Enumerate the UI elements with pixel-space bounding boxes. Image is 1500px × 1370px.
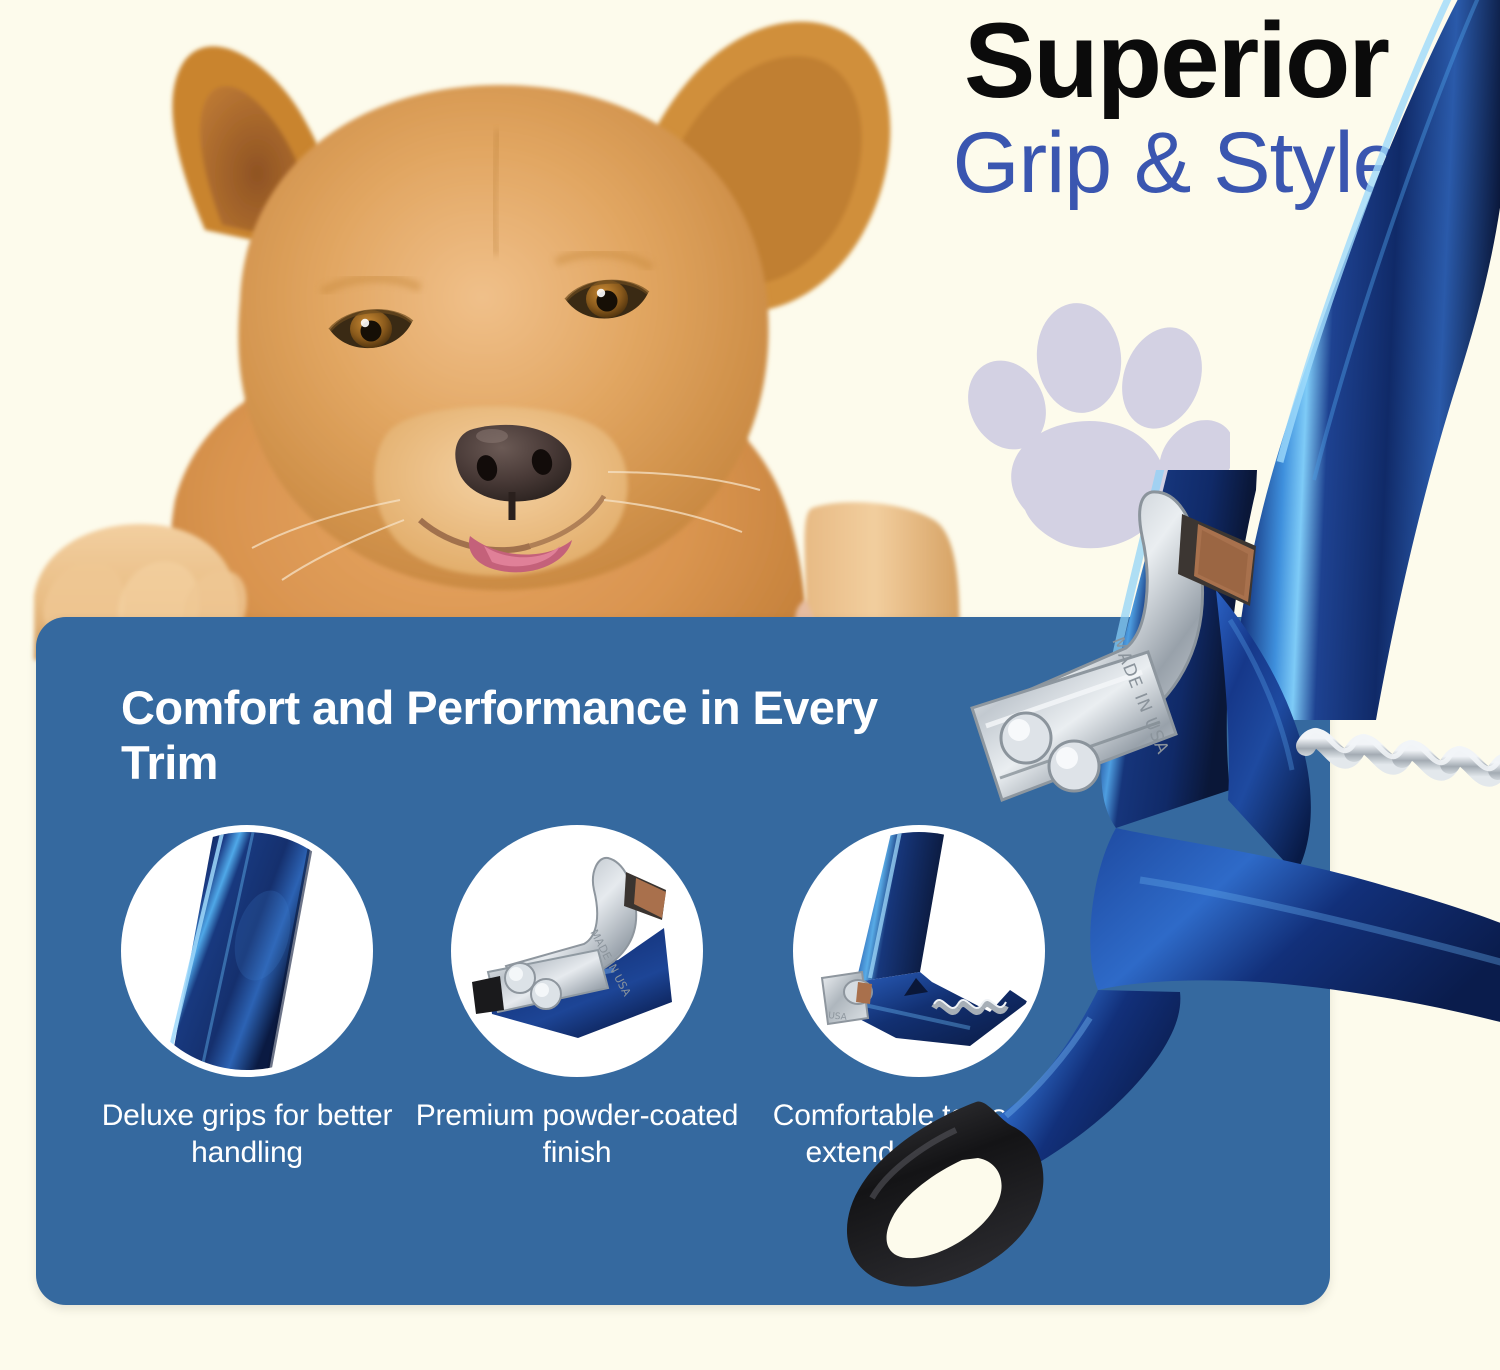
product-marketing-image: Superior Grip & Style Comfort and Perfor… [0, 0, 1500, 1370]
feature-item-deluxe-grips: Deluxe grips for better handling [82, 832, 412, 1171]
panel-title: Comfort and Performance in Every Trim [121, 681, 881, 790]
feature-list: Deluxe grips for better handling [82, 832, 1092, 1252]
feature-caption: Comfortable to use for extended periods [754, 1098, 1084, 1171]
headline-block: Superior Grip & Style [856, 6, 1496, 209]
feature-item-extended-use-comfort: USA Comfortable t [754, 832, 1084, 1171]
paw-print-icon [955, 300, 1230, 560]
features-panel: Comfort and Performance in Every Trim [36, 617, 1330, 1305]
clipper-spring-closeup: USA [800, 832, 1038, 1070]
clipper-handle-closeup [128, 832, 366, 1070]
feature-item-powder-coated-finish: MADE IN USA Premium powder-coated finish [412, 832, 742, 1171]
headline-line-1: Superior [856, 6, 1496, 115]
headline-line-2: Grip & Style [856, 119, 1496, 208]
feature-caption: Deluxe grips for better handling [82, 1098, 412, 1171]
svg-text:USA: USA [828, 1011, 848, 1023]
clipper-head-closeup: MADE IN USA [458, 832, 696, 1070]
feature-caption: Premium powder-coated finish [412, 1098, 742, 1171]
